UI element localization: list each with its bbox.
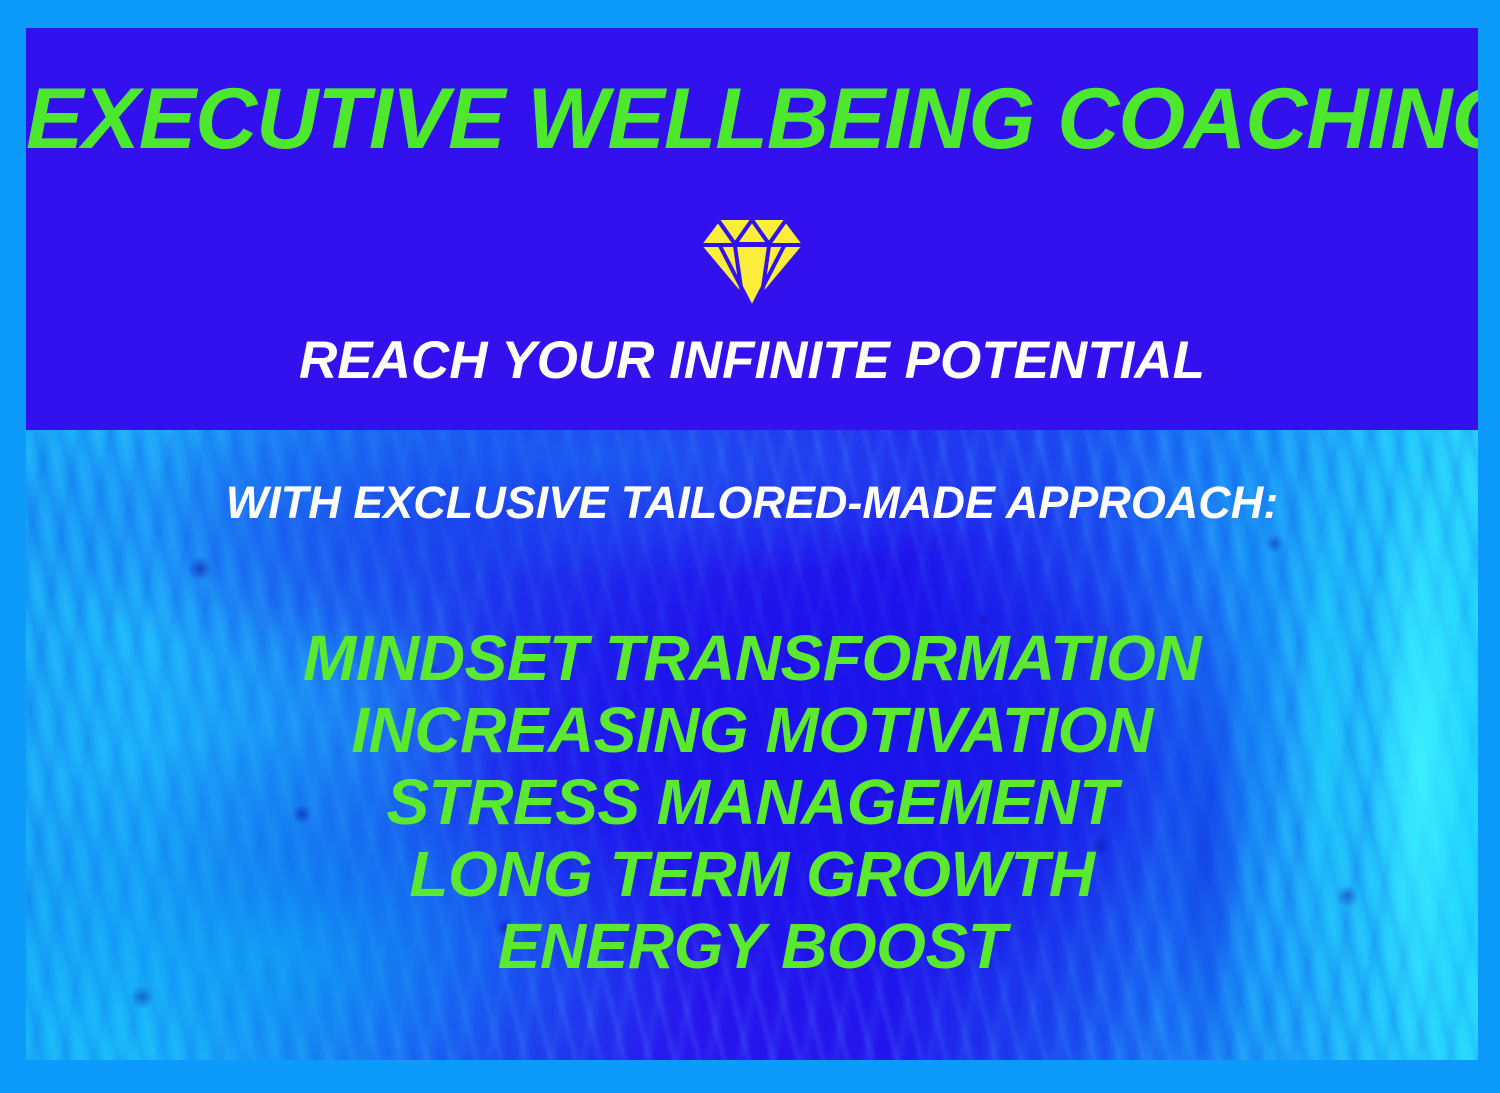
poster-root: EXECUTIVE WELLBEING COACHING xyxy=(0,0,1500,1093)
benefit-item: ENERGY BOOST xyxy=(26,910,1478,982)
benefit-item: LONG TERM GROWTH xyxy=(26,838,1478,910)
benefit-item: MINDSET TRANSFORMATION xyxy=(26,622,1478,694)
header-panel: EXECUTIVE WELLBEING COACHING xyxy=(26,28,1478,430)
tagline: WITH EXCLUSIVE TAILORED-MADE APPROACH: xyxy=(26,480,1478,525)
page-subtitle: REACH YOUR INFINITE POTENTIAL xyxy=(26,334,1478,387)
page-title: EXECUTIVE WELLBEING COACHING xyxy=(26,76,1478,162)
marbled-texture-panel: WITH EXCLUSIVE TAILORED-MADE APPROACH: M… xyxy=(26,430,1478,1060)
gem-stone-icon-wrap xyxy=(26,200,1478,320)
benefit-item: INCREASING MOTIVATION xyxy=(26,694,1478,766)
benefit-item: STRESS MANAGEMENT xyxy=(26,766,1478,838)
gem-stone-icon xyxy=(698,210,806,310)
benefits-list: MINDSET TRANSFORMATION INCREASING MOTIVA… xyxy=(26,622,1478,982)
